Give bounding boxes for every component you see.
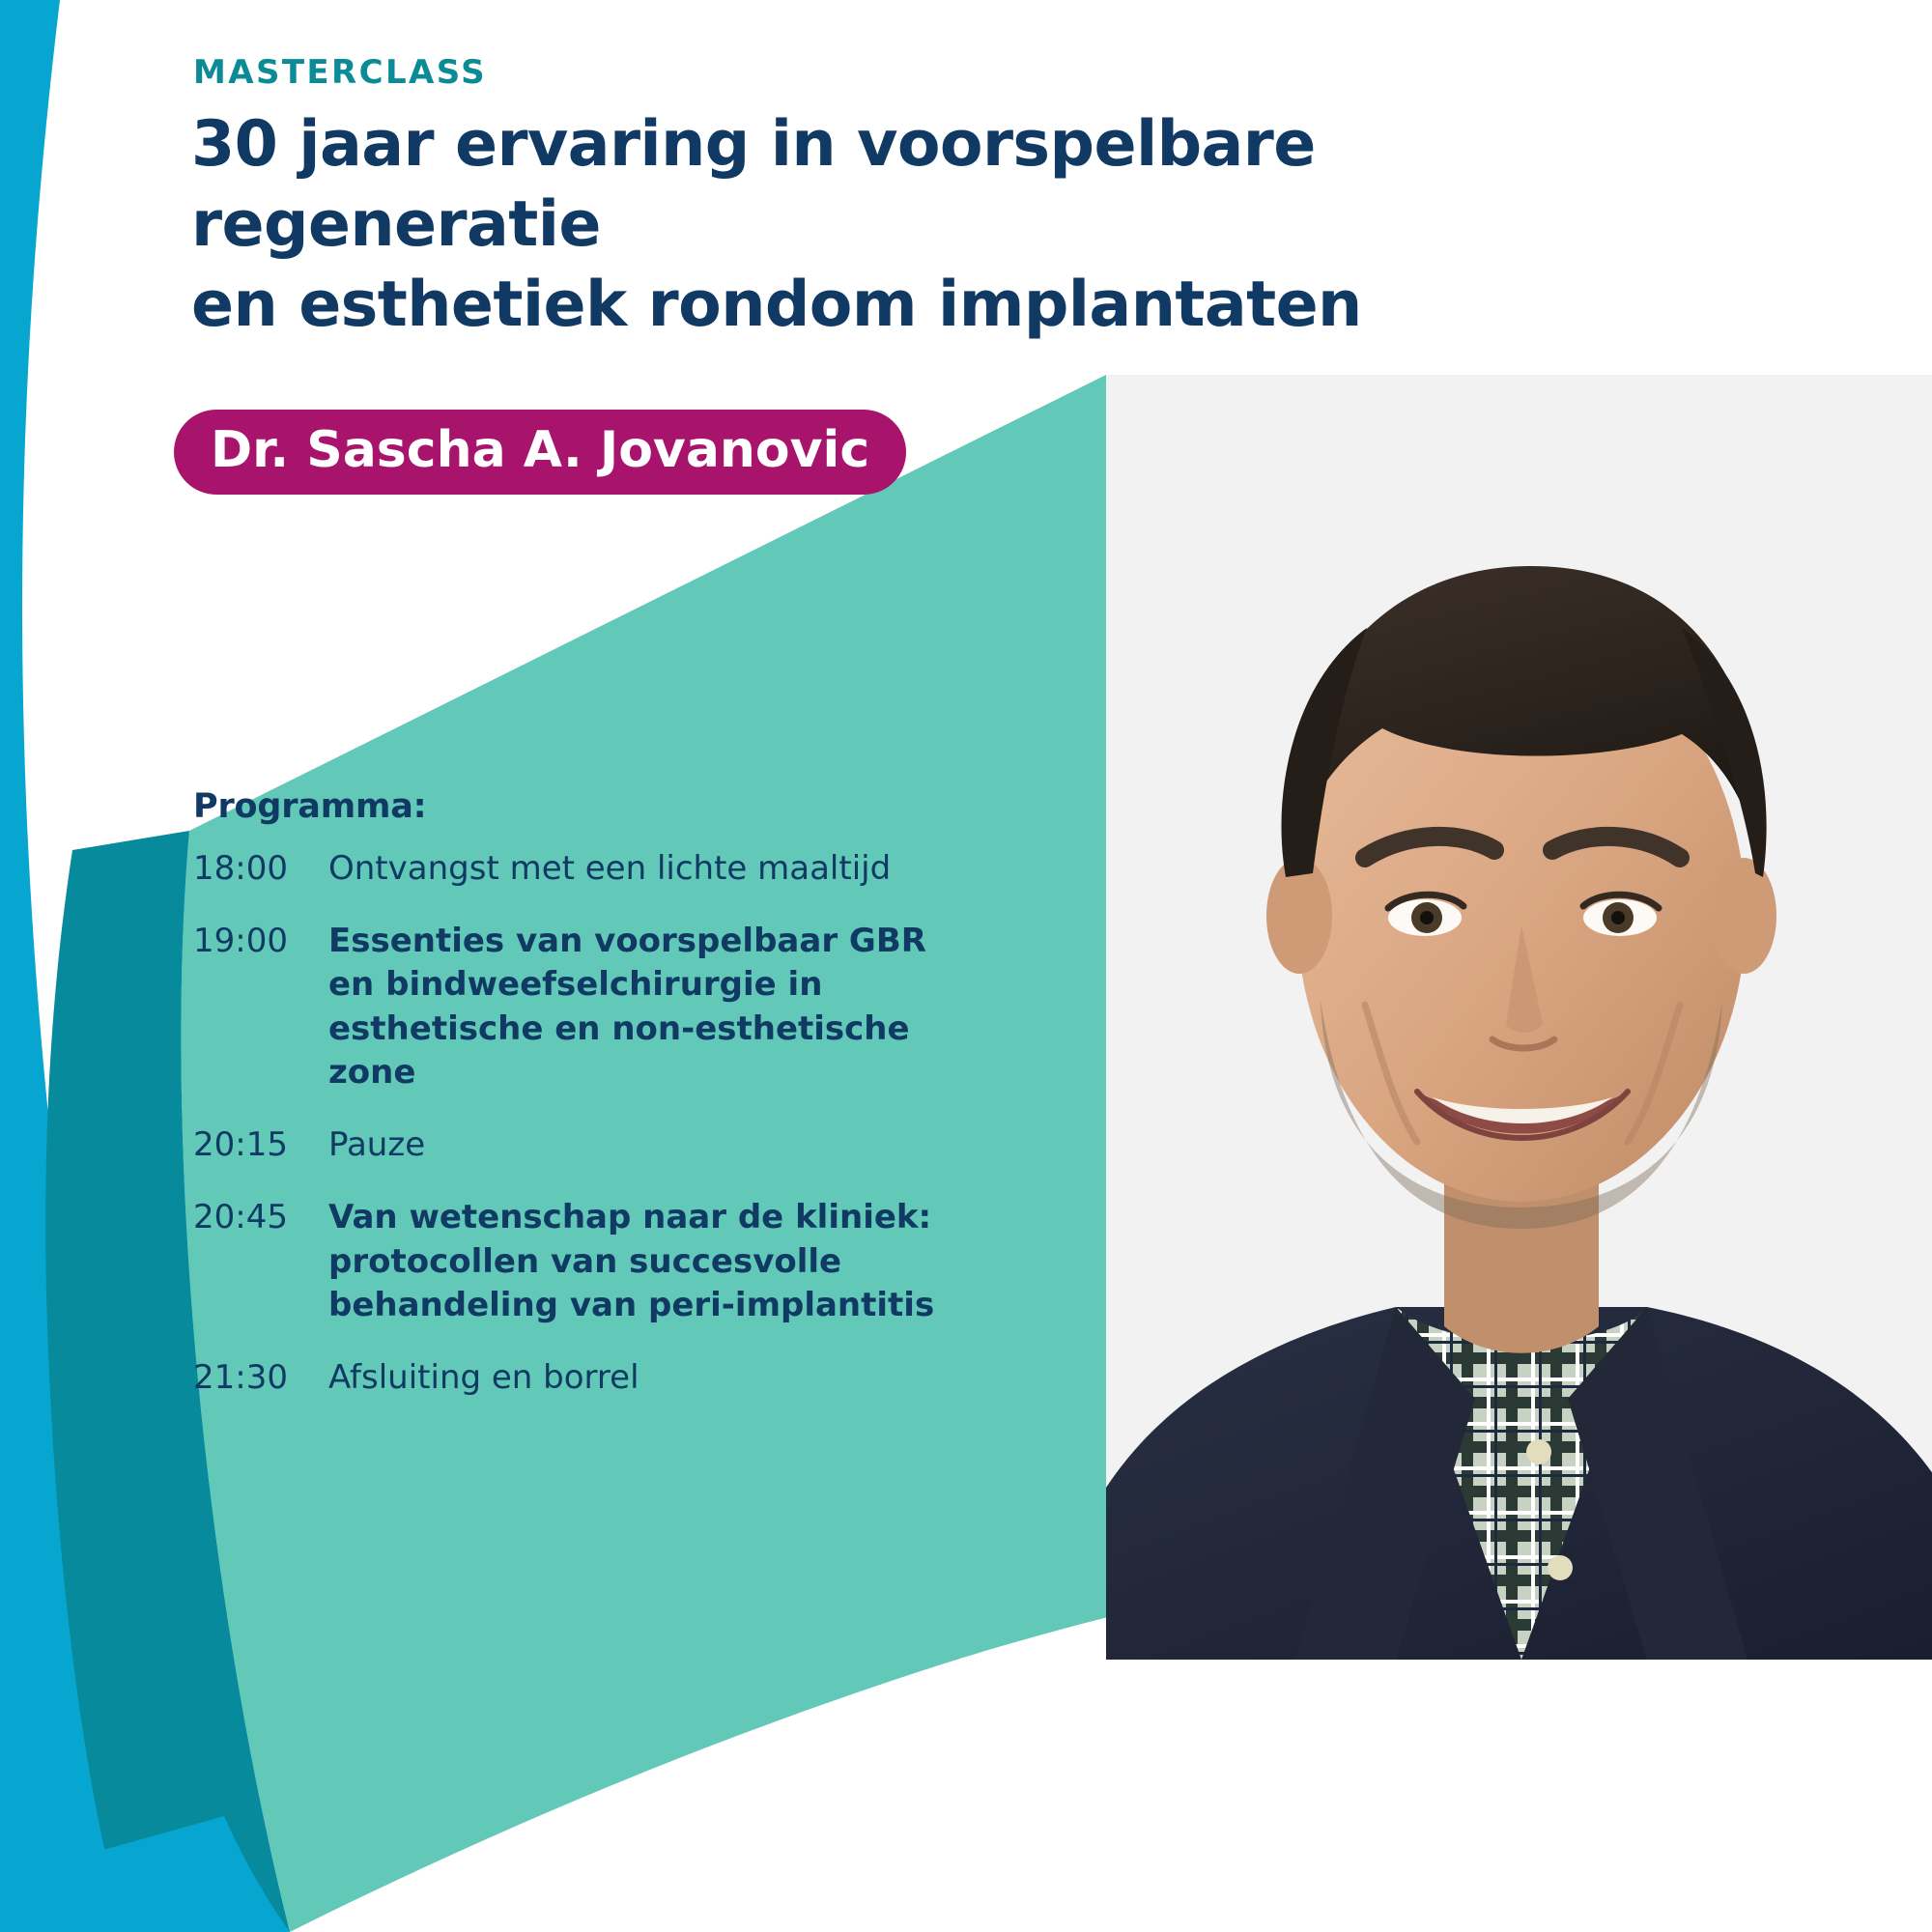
programme-row: 21:30 Afsluiting en borrel <box>193 1356 947 1400</box>
page-title-line-2: en esthetiek rondom implantaten <box>191 265 1698 345</box>
programme-description: Afsluiting en borrel <box>328 1356 947 1400</box>
programme-description-line: Van wetenschap naar de kliniek: <box>328 1196 947 1239</box>
programme-description-line: Afsluiting en borrel <box>328 1356 947 1400</box>
programme-heading: Programma: <box>193 787 947 826</box>
programme-time: 18:00 <box>193 847 328 891</box>
programme-description-line: behandeling van peri-implantitis <box>328 1284 947 1327</box>
programme-row: 18:00 Ontvangst met een lichte maaltijd <box>193 847 947 891</box>
programme-row: 19:00 Essenties van voorspelbaar GBR en … <box>193 920 947 1094</box>
programme-time: 21:30 <box>193 1356 328 1400</box>
masterclass-poster: MASTERCLASS 30 jaar ervaring in voorspel… <box>0 0 1932 1932</box>
programme-time: 20:15 <box>193 1123 328 1167</box>
programme-row: 20:45 Van wetenschap naar de kliniek: pr… <box>193 1196 947 1327</box>
programme-description-line: protocollen van succesvolle <box>328 1240 947 1284</box>
programme-description-line: Pauze <box>328 1123 947 1167</box>
programme-row: 20:15 Pauze <box>193 1123 947 1167</box>
programme-section: Programma: 18:00 Ontvangst met een licht… <box>193 787 947 1429</box>
kicker-label: MASTERCLASS <box>193 53 487 92</box>
programme-description: Van wetenschap naar de kliniek: protocol… <box>328 1196 947 1327</box>
programme-time: 19:00 <box>193 920 328 1094</box>
programme-time: 20:45 <box>193 1196 328 1327</box>
programme-description: Pauze <box>328 1123 947 1167</box>
programme-description-line: Essenties van voorspelbaar GBR <box>328 920 947 963</box>
programme-description-line: Ontvangst met een lichte maaltijd <box>328 847 947 891</box>
programme-description: Essenties van voorspelbaar GBR en bindwe… <box>328 920 947 1094</box>
programme-description-line: en bindweefselchirurgie in <box>328 963 947 1007</box>
programme-description-line: esthetische en non-esthetische zone <box>328 1008 947 1094</box>
programme-description: Ontvangst met een lichte maaltijd <box>328 847 947 891</box>
page-title-line-1: 30 jaar ervaring in voorspelbare regener… <box>191 104 1698 265</box>
speaker-name-badge: Dr. Sascha A. Jovanovic <box>174 410 906 495</box>
page-title: 30 jaar ervaring in voorspelbare regener… <box>191 104 1698 346</box>
